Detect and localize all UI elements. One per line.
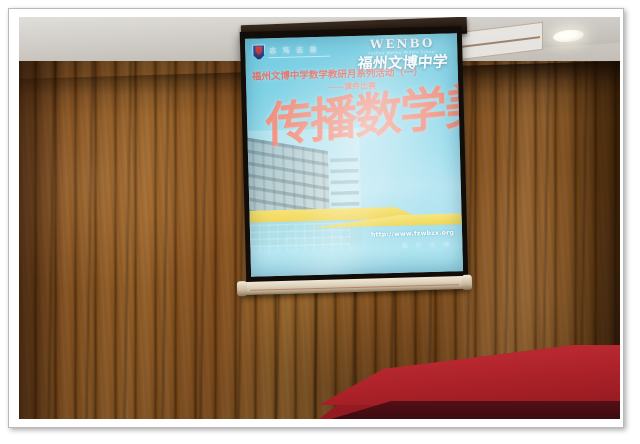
slide-headline: 福州文博中学数学教研月系列活动（一） xyxy=(252,63,452,82)
school-emblem-icon xyxy=(252,44,265,60)
screen-bar-stripe xyxy=(250,284,459,291)
projection-screen: 志 笃 志 善 WENBO Fuzhou Wenbo Middle School… xyxy=(239,17,471,303)
presentation-slide: 志 笃 志 善 WENBO Fuzhou Wenbo Middle School… xyxy=(245,33,463,276)
photograph: 志 笃 志 善 WENBO Fuzhou Wenbo Middle School… xyxy=(19,17,620,419)
building-photo-side-block xyxy=(330,158,359,211)
slide-main-title: 传播数学美 xyxy=(265,85,455,150)
photo-frame: 志 笃 志 善 WENBO Fuzhou Wenbo Middle School… xyxy=(0,0,640,444)
school-motto: 志 笃 志 善 xyxy=(269,45,319,56)
projection-screen-body: 志 笃 志 善 WENBO Fuzhou Wenbo Middle School… xyxy=(240,26,469,284)
screen-bar-right-knob xyxy=(462,275,472,290)
slide-website-caption: 福 州 文 博 xyxy=(402,239,453,249)
projection-screen-surface: 志 笃 志 善 WENBO Fuzhou Wenbo Middle School… xyxy=(245,33,463,276)
school-motto-underline xyxy=(268,56,330,59)
screen-bar-left-knob xyxy=(237,281,247,296)
wall-left-shading xyxy=(19,61,65,419)
